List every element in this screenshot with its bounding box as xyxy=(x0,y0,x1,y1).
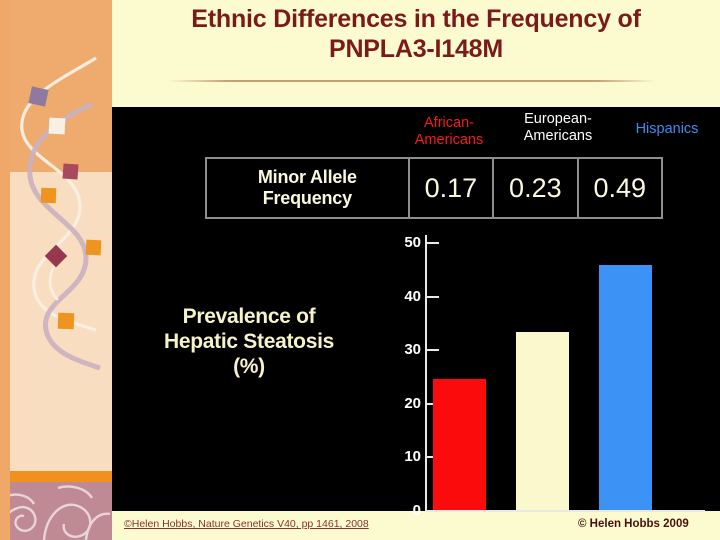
table-cell-european-americans: 0.23 xyxy=(492,159,576,217)
y-axis-label-line1: Prevalence of xyxy=(124,304,374,329)
group-header-hispanics: Hispanics xyxy=(617,121,717,138)
source-citation[interactable]: ©Helen Hobbs, Nature Genetics V40, pp 14… xyxy=(124,518,369,530)
group-header-line2: Americans xyxy=(502,128,614,145)
y-tick-label-10: 10 xyxy=(381,449,421,464)
page-title-line2: PNPLA3-I148M xyxy=(112,34,720,64)
table-cell-african-americans: 0.17 xyxy=(408,159,492,217)
y-axis-label-line2: Hepatic Steatosis xyxy=(124,329,374,354)
sidebar-paisley-pattern xyxy=(0,482,112,540)
y-axis-label: Prevalence of Hepatic Steatosis (%) xyxy=(124,304,374,379)
square-orange-3 xyxy=(58,313,75,330)
sidebar-orange-stripe xyxy=(0,471,112,482)
square-orange-1 xyxy=(41,188,57,204)
chart-panel: African- Americans European- Americans H… xyxy=(112,107,720,511)
table-row-label: Minor Allele Frequency xyxy=(207,159,408,217)
slide: Ethnic Differences in the Frequency of P… xyxy=(0,0,720,540)
square-mauve-1 xyxy=(28,86,48,106)
square-orange-2 xyxy=(86,240,102,256)
bar-european-americans xyxy=(516,332,569,510)
group-header-line1: Hispanics xyxy=(617,121,717,138)
table-row-label-line1: Minor Allele xyxy=(258,167,357,188)
group-header-line1: European- xyxy=(502,111,614,128)
copyright-icon: © xyxy=(124,518,132,530)
y-axis-line xyxy=(425,235,427,510)
y-tick-0 xyxy=(427,510,439,512)
page-title-line1: Ethnic Differences in the Frequency of xyxy=(112,4,720,34)
y-tick-label-30: 30 xyxy=(381,342,421,357)
y-tick-40 xyxy=(427,296,439,298)
sidebar-left-edge xyxy=(0,0,10,540)
y-tick-label-0: 0 xyxy=(381,503,421,518)
bar-hispanics xyxy=(599,265,652,510)
bar-chart: 01020304050 xyxy=(385,235,705,517)
copyright-notice: © Helen Hobbs 2009 xyxy=(578,518,689,530)
y-tick-label-50: 50 xyxy=(381,235,421,250)
y-tick-50 xyxy=(427,242,439,244)
bar-african-americans xyxy=(433,379,486,510)
group-header-line2: Americans xyxy=(400,132,498,149)
group-header-european-americans: European- Americans xyxy=(502,111,614,145)
square-maroon-1 xyxy=(62,163,78,179)
x-axis-line xyxy=(425,510,705,512)
minor-allele-frequency-table: Minor Allele Frequency 0.17 0.23 0.49 xyxy=(205,157,663,219)
table-cell-hispanics: 0.49 xyxy=(577,159,661,217)
square-white-1 xyxy=(49,118,66,135)
table-row-label-line2: Frequency xyxy=(258,188,357,209)
decorative-sidebar xyxy=(0,0,112,540)
y-tick-label-40: 40 xyxy=(381,289,421,304)
y-tick-label-20: 20 xyxy=(381,396,421,411)
group-header-line1: African- xyxy=(400,115,498,132)
title-divider xyxy=(168,80,656,82)
y-axis-label-line3: (%) xyxy=(124,354,374,379)
group-header-african-americans: African- Americans xyxy=(400,115,498,149)
page-title: Ethnic Differences in the Frequency of P… xyxy=(112,4,720,64)
source-citation-text: Helen Hobbs, Nature Genetics V40, pp 146… xyxy=(132,518,369,530)
y-tick-30 xyxy=(427,349,439,351)
